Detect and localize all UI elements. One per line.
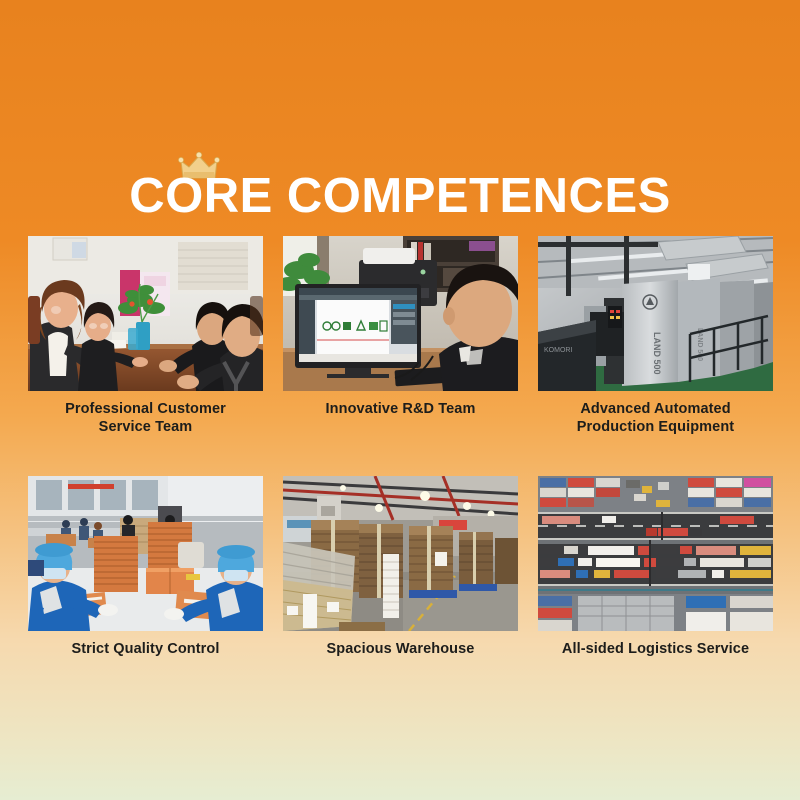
caption-line-1: Strict Quality Control xyxy=(71,641,219,657)
competence-card-all-sided-logistics-service[interactable]: All-sided Logistics Service xyxy=(538,476,773,658)
caption-line-1: All-sided Logistics Service xyxy=(562,641,749,657)
page-title: CORE COMPETENCES xyxy=(129,172,671,221)
card-caption: Professional Customer Service Team xyxy=(28,400,263,436)
caption-line-1: Advanced Automated xyxy=(580,401,730,417)
designer-at-monitor-photo[interactable] xyxy=(283,236,518,391)
competence-card-advanced-automated-production-equipment[interactable]: LAND 500 LAND 500 KOMORI Advanced Automa… xyxy=(538,236,773,436)
warehouse-stacked-pallets-photo[interactable] xyxy=(283,476,518,631)
card-caption: Strict Quality Control xyxy=(28,640,263,658)
competence-grid: Professional Customer Service Team xyxy=(28,236,772,658)
page-header: CORE COMPETENCES xyxy=(0,152,800,221)
card-caption: Spacious Warehouse xyxy=(283,640,518,658)
competence-row: Professional Customer Service Team xyxy=(28,236,772,436)
caption-line-2: Production Equipment xyxy=(538,418,773,436)
caption-line-1: Innovative R&D Team xyxy=(326,401,476,417)
competence-card-professional-customer-service-team[interactable]: Professional Customer Service Team xyxy=(28,236,263,436)
competence-card-spacious-warehouse[interactable]: Spacious Warehouse xyxy=(283,476,518,658)
svg-text:KOMORI: KOMORI xyxy=(544,347,572,354)
caption-line-2: Service Team xyxy=(28,418,263,436)
svg-text:LAND 500: LAND 500 xyxy=(652,332,662,375)
competence-card-strict-quality-control[interactable]: Strict Quality Control xyxy=(28,476,263,658)
caption-line-1: Spacious Warehouse xyxy=(327,641,475,657)
aerial-container-yard-photo[interactable] xyxy=(538,476,773,631)
competence-card-innovative-rd-team[interactable]: Innovative R&D Team xyxy=(283,236,518,436)
meeting-room-photo[interactable] xyxy=(28,236,263,391)
card-caption: Innovative R&D Team xyxy=(283,400,518,418)
quality-inspection-workers-photo[interactable] xyxy=(28,476,263,631)
card-caption: All-sided Logistics Service xyxy=(538,640,773,658)
competence-row: Strict Quality Control xyxy=(28,476,772,658)
printing-press-machinery-photo[interactable]: LAND 500 LAND 500 KOMORI xyxy=(538,236,773,391)
card-caption: Advanced Automated Production Equipment xyxy=(538,400,773,436)
caption-line-1: Professional Customer xyxy=(65,401,226,417)
